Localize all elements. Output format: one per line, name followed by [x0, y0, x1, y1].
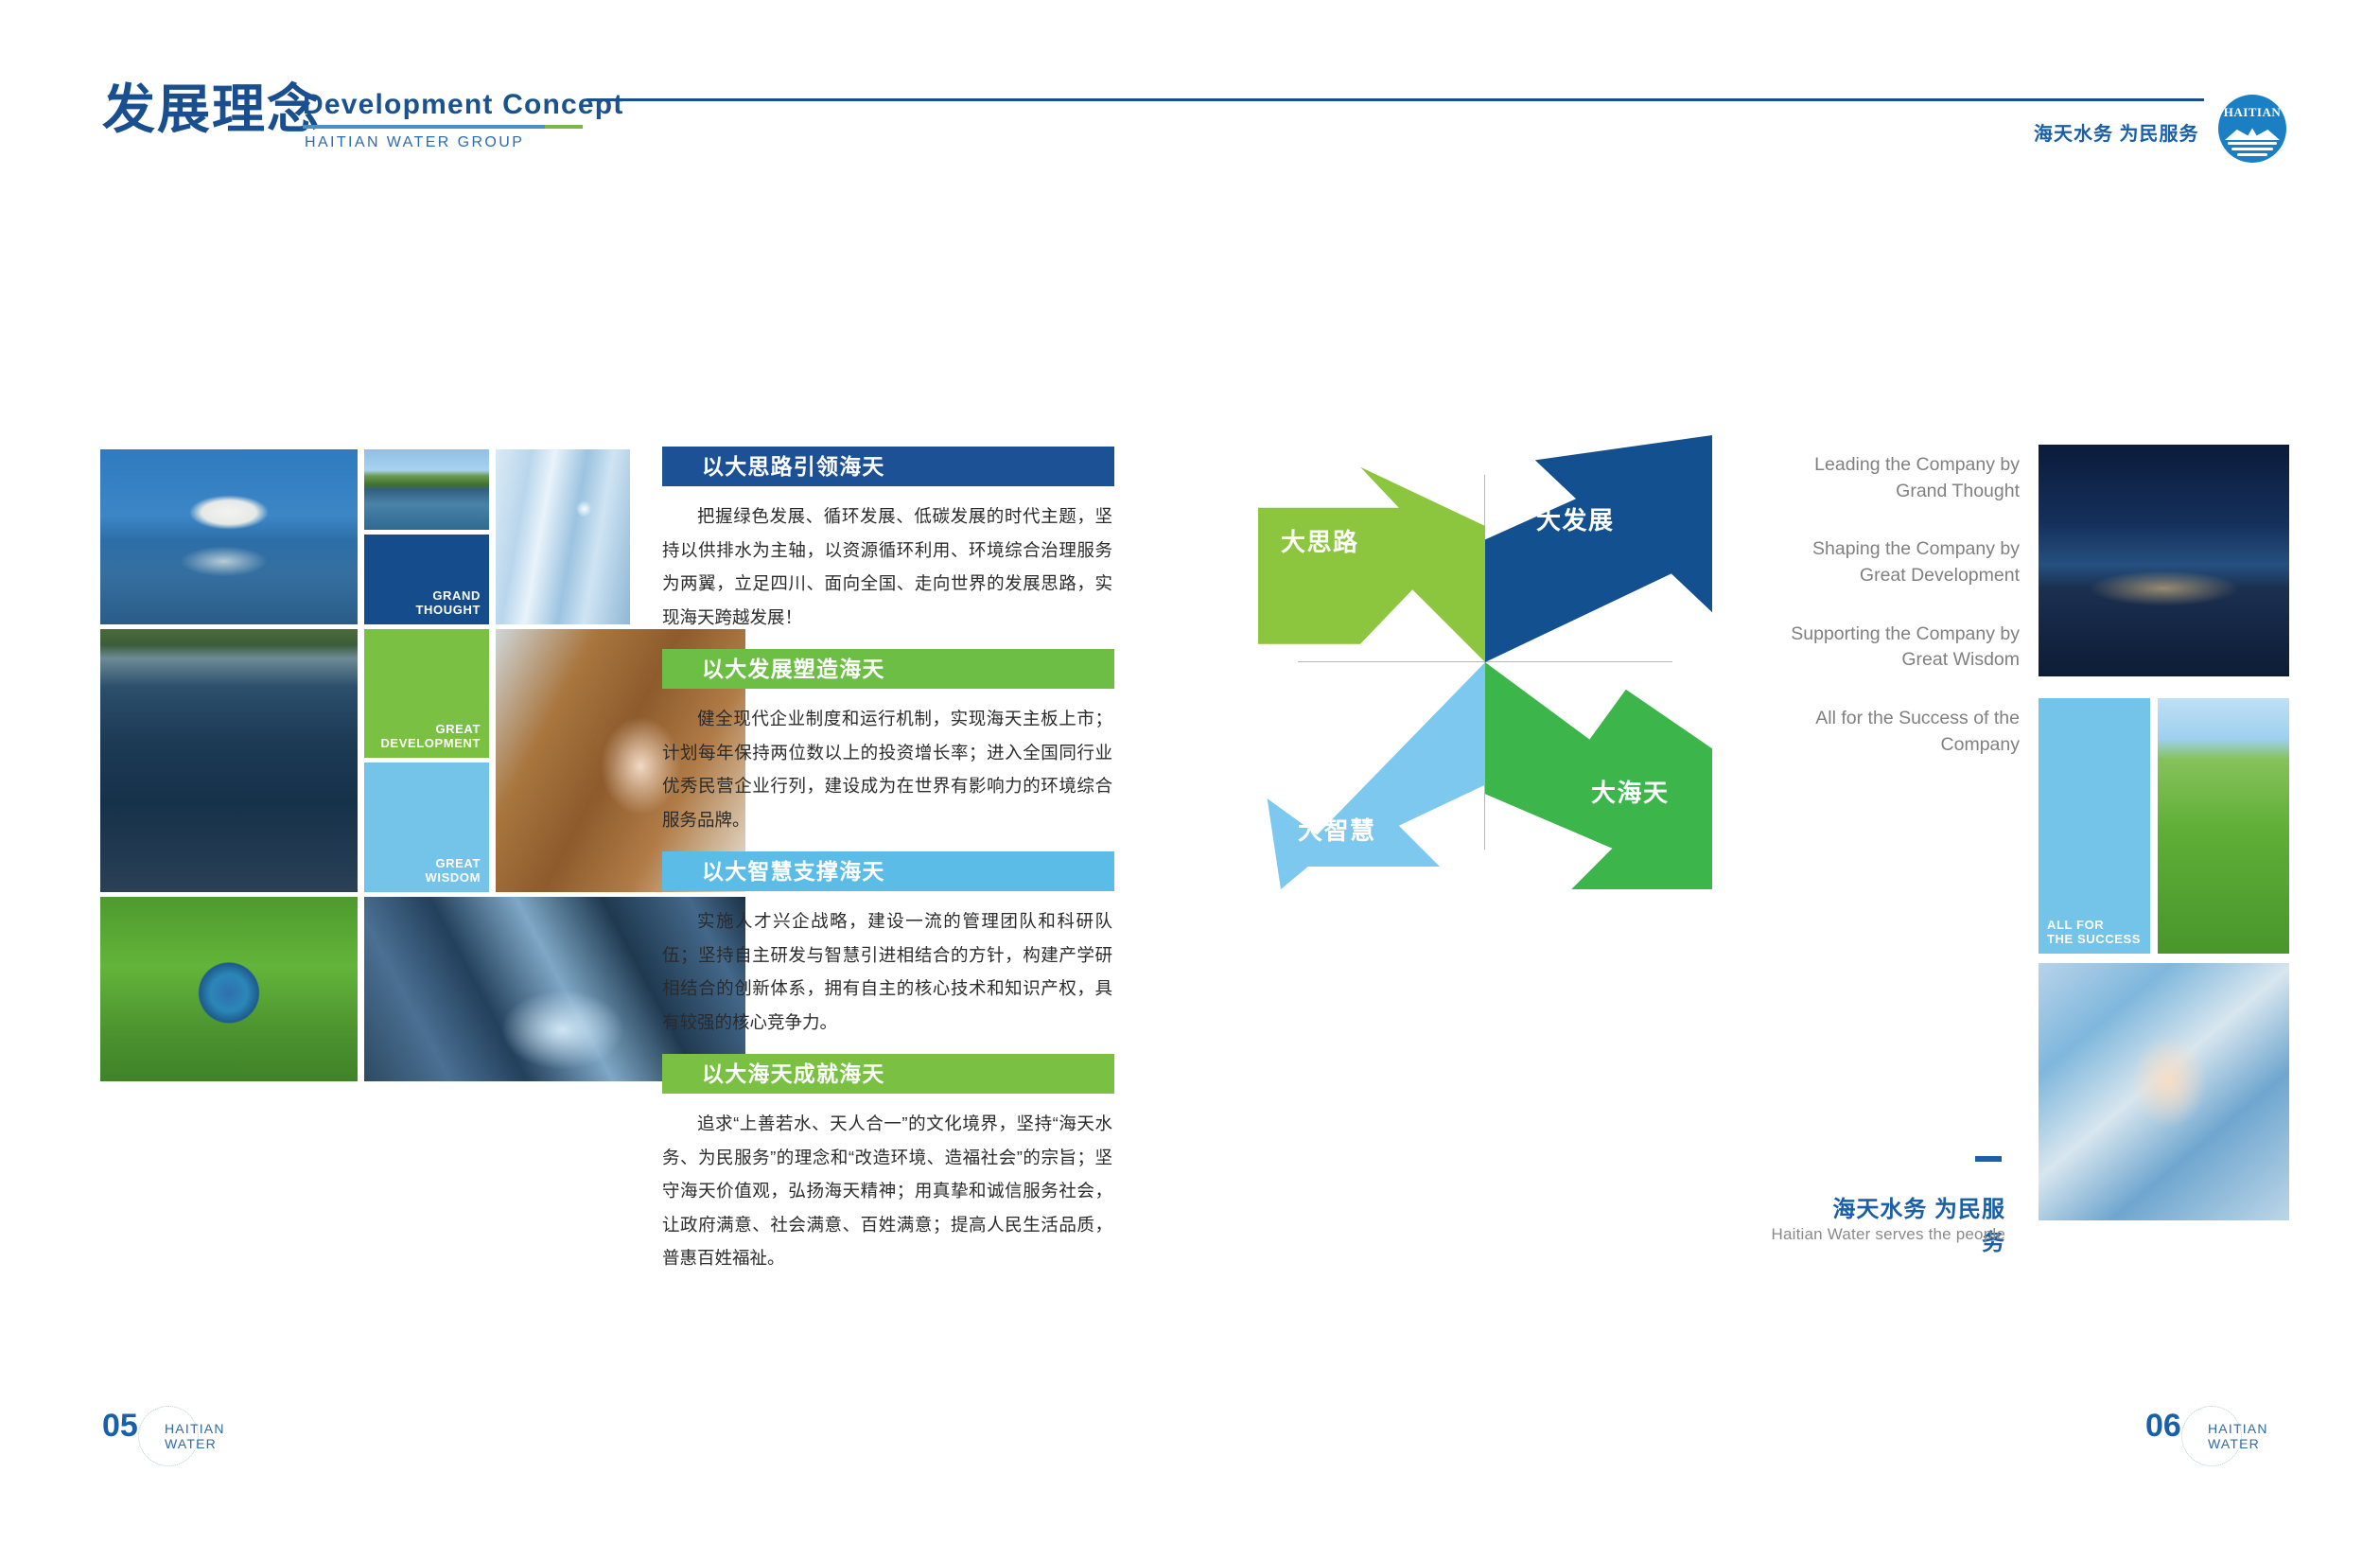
photo-treatment-canal [100, 629, 358, 892]
pinwheel-label-great-haitian: 大海天 [1591, 774, 1670, 809]
logo-wave-2 [2231, 148, 2273, 150]
section-heading-1: 以大思路引领海天 [662, 447, 1114, 486]
photo-collage: GRAND THOUGHT GREAT DEVELOPMENT GREAT WI… [100, 449, 630, 1225]
photo-green-field [2158, 698, 2289, 954]
caption-tile-great-development: GREAT DEVELOPMENT [364, 629, 489, 758]
english-statement-1: Leading the Company by Grand Thought [1778, 452, 2020, 504]
logo-mountain-shape [2225, 123, 2280, 140]
section-heading-4: 以大海天成就海天 [662, 1054, 1114, 1094]
caption-great-wisdom: GREAT WISDOM [426, 857, 481, 885]
english-statement-3: Supporting the Company by Great Wisdom [1778, 622, 2020, 674]
pinwheel-diagram: 大思路 大发展 大智慧 大海天 [1258, 435, 1712, 889]
photo-night-city-river [2039, 445, 2289, 676]
section-body-2: 健全现代企业制度和运行机制，实现海天主板上市；计划每年保持两位数以上的投资增长率… [662, 689, 1114, 851]
logo-wave-3 [2237, 153, 2267, 156]
caption-grand-thought: GRAND THOUGHT [416, 589, 481, 618]
page-number-right: 06 [2145, 1410, 2181, 1442]
page-number-left: 05 [102, 1410, 138, 1442]
pinwheel-label-great-wisdom: 大智慧 [1298, 812, 1376, 847]
photo-mountain-lake [364, 449, 489, 530]
photo-hands-holding-globe [100, 897, 358, 1081]
haitian-logo-icon: HAITIAN [2218, 95, 2286, 163]
english-statement-4: All for the Success of the Company [1778, 706, 2020, 758]
english-statement-2: Shaping the Company by Great Development [1778, 536, 2020, 588]
pinwheel-label-grand-thought: 大思路 [1281, 523, 1359, 558]
caption-tile-grand-thought: GRAND THOUGHT [364, 535, 489, 624]
header-divider-rule [586, 98, 2204, 101]
slogan-cn: 海天水务 为民服务 [1816, 1190, 2005, 1256]
concept-text-column: 以大思路引领海天 把握绿色发展、循环发展、低碳发展的时代主题，坚持以供排水为主轴… [662, 447, 1114, 1290]
page-subtitle-en: HAITIAN WATER GROUP [305, 135, 524, 150]
caption-tile-great-wisdom: GREAT WISDOM [364, 763, 489, 892]
section-body-1: 把握绿色发展、循环发展、低碳发展的时代主题，坚持以供排水为主轴，以资源循环利用、… [662, 486, 1114, 649]
section-heading-3: 以大智慧支撑海天 [662, 851, 1114, 891]
photo-water-drop-glasses [496, 449, 630, 624]
pinwheel-arm-great-haitian: 大海天 [1485, 662, 1712, 889]
section-body-4: 追求“上善若水、天人合一”的文化境界，坚持“海天水务、为民服务”的理念和“改造环… [662, 1094, 1114, 1290]
section-heading-2: 以大发展塑造海天 [662, 649, 1114, 689]
page-title-en: Development Concept [303, 91, 624, 119]
pinwheel-arm-great-development: 大发展 [1485, 435, 1712, 662]
caption-tile-all-for-success: ALL FOR THE SUCCESS [2039, 698, 2150, 954]
caption-all-for-success: ALL FOR THE SUCCESS [2047, 919, 2141, 947]
section-body-3: 实施人才兴企战略，建设一流的管理团队和科研队伍；坚持自主研发与智慧引进相结合的方… [662, 891, 1114, 1054]
slogan-dash-rule [1975, 1156, 2002, 1162]
pinwheel-label-great-development: 大发展 [1536, 501, 1615, 536]
photo-child-drinking-water [2039, 963, 2289, 1220]
title-underline-green [545, 125, 583, 129]
arrow-shape-light-blue [1258, 662, 1485, 889]
caption-great-development: GREAT DEVELOPMENT [380, 723, 481, 751]
english-statement-list: Leading the Company by Grand Thought Sha… [1778, 452, 2020, 791]
pinwheel-arm-grand-thought: 大思路 [1258, 435, 1485, 662]
footer-label-right: HAITIAN WATER [2208, 1421, 2268, 1451]
pinwheel-arm-great-wisdom: 大智慧 [1258, 662, 1485, 889]
arrow-shape-dark-blue [1485, 435, 1712, 662]
logo-wordmark: HAITIAN [2218, 105, 2286, 120]
slogan-en: Haitian Water serves the people [1731, 1225, 2005, 1244]
header-slogan: 海天水务 为民服务 [2034, 125, 2199, 144]
page-title-cn: 发展理念 [102, 83, 322, 136]
footer-label-left: HAITIAN WATER [165, 1421, 225, 1451]
logo-wave-1 [2228, 142, 2277, 145]
title-underline-blue [303, 125, 545, 129]
photo-heron-in-water [100, 449, 358, 624]
